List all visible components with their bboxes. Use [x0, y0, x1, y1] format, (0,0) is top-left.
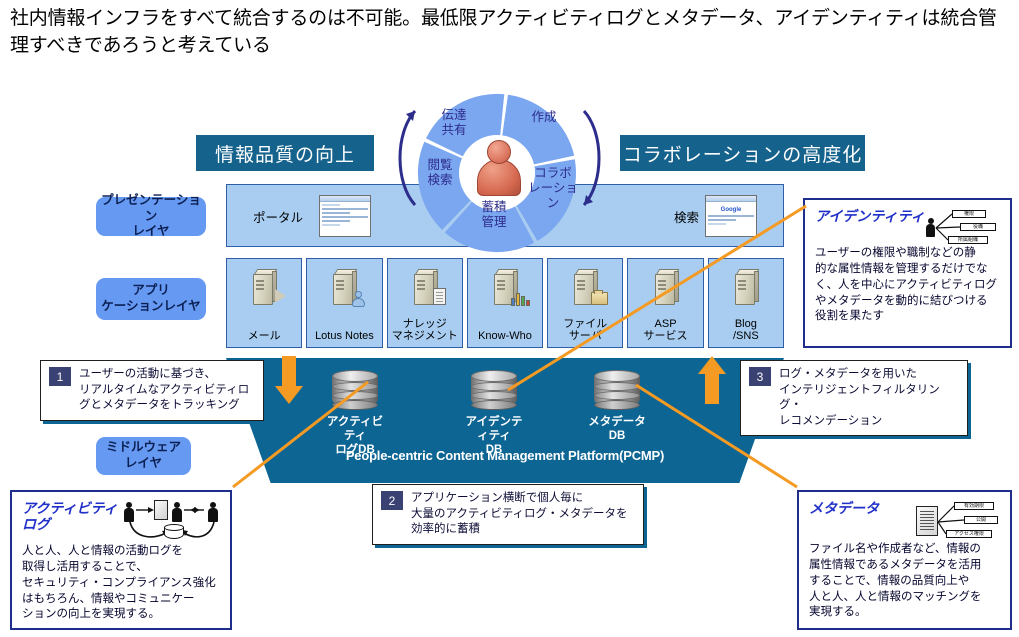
note-1-line1: ユーザーの活動に基づき、 [79, 368, 216, 380]
rotation-arrow-left-icon [389, 103, 423, 213]
concept-box-metadata: メタデータ 有効期限 公開 アクセス権限 ファイル名や作成者など、情報の 属性情… [797, 490, 1012, 630]
activity-body-5: ションの向上を実現する。 [22, 608, 160, 620]
portal-label: ポータル [253, 207, 303, 226]
concept-metadata-title: メタデータ [809, 500, 879, 516]
server-icon [651, 269, 681, 307]
metadata-body-5: 実現する。 [809, 606, 867, 618]
identity-body-4: やメタデータを動的に結びつける [815, 295, 988, 307]
app-tile-asp-service[interactable]: ASP サービス [627, 258, 703, 348]
concept-identity-body: ユーザーの権限や職制などの静 的な属性情報を管理するだけでな く、人を中心にアク… [815, 246, 1000, 325]
pcmp-platform-title: People-centric Content Management Platfo… [226, 448, 784, 463]
database-cylinder-icon [332, 370, 378, 412]
metadata-body-3: することで、情報の品質向上や [809, 575, 969, 587]
browser-window-icon [319, 195, 371, 237]
page-title: 社内情報インフラをすべて統合するのは不可能。最低限アクティビティログとメタデータ… [10, 6, 1010, 60]
note-1-line2: リアルタイムなアクティビティロ [79, 384, 249, 396]
note-3-line2: インテリジェントフィルタリング・ [779, 384, 940, 412]
google-search-window-icon: Google [705, 195, 757, 237]
server-icon [731, 269, 761, 307]
database-identity: アイデンティティ DB [461, 370, 527, 457]
db-label-identity-1: アイデンティティ [466, 416, 523, 442]
db-label-metadata-1: メタデータ [588, 416, 646, 428]
server-mail-icon [249, 269, 279, 307]
app-label-mail: メール [248, 330, 281, 342]
note-3-line1: ログ・メタデータを用いた [779, 368, 917, 380]
concept-identity-title: アイデンティティ [815, 208, 925, 224]
layer-presentation-line2: レイヤ [132, 224, 169, 238]
metadata-body-2: 属性情報であるメタデータを活用 [809, 559, 981, 571]
server-document-icon [410, 269, 440, 307]
metadata-body-4: 人と人、人と情報のマッチングを [809, 591, 982, 603]
layer-label-application: アプリ ケーションレイヤ [96, 278, 206, 320]
app-label-blog-sns-2: /SNS [733, 330, 759, 342]
pcmp-platform-panel: アクティビティ ログDB アイデンティティ DB メタデータ DB People… [226, 358, 784, 483]
rotation-arrow-right-icon [576, 103, 610, 213]
layer-presentation-line1: プレゼンテーション [101, 193, 201, 223]
concept-box-activity-log: アクティビティ ログ 人と人、人と情報の活動ログを [10, 490, 232, 630]
app-tile-lotus-notes[interactable]: Lotus Notes [306, 258, 382, 348]
layer-label-presentation: プレゼンテーション レイヤ [96, 197, 206, 236]
activity-title-1: アクティビティ [22, 500, 118, 516]
server-chart-icon [490, 269, 520, 307]
database-cylinder-icon [594, 370, 640, 412]
app-label-asp-service-2: サービス [644, 330, 688, 342]
note-number-3: 3 [749, 367, 771, 386]
search-label: 検索 [674, 207, 699, 226]
layer-label-middleware: ミドルウェア レイヤ [96, 437, 191, 475]
concept-box-identity: アイデンティティ 権限 役職 所属組織 ユーザーの権限や職制などの静 的な属性情… [803, 198, 1012, 348]
concept-activity-title: アクティビティ ログ [22, 500, 118, 532]
note-2-line1: アプリケーション横断で個人毎に [411, 492, 583, 504]
note-number-2: 2 [381, 491, 403, 510]
metadata-body-1: ファイル名や作成者など、情報の [809, 543, 981, 555]
app-tile-knowledge-management[interactable]: ナレッジ マネジメント [387, 258, 463, 348]
activity-body-1: 人と人、人と情報の活動ログを [22, 545, 183, 557]
app-label-knowledge-management-1: ナレッジ [403, 318, 447, 330]
db-label-metadata-2: DB [609, 430, 626, 442]
identity-tag-2: 役職 [960, 223, 996, 231]
activity-body-3: セキュリティ・コンプライアンス強化 [22, 577, 216, 589]
app-label-know-who: Know-Who [478, 330, 532, 342]
app-tile-mail[interactable]: メール [226, 258, 302, 348]
search-thumb-brand: Google [708, 207, 754, 213]
identity-body-1: ユーザーの権限や職制などの静 [815, 247, 976, 259]
note-callout-1: 1 ユーザーの活動に基づき、 リアルタイムなアクティビティロ グとメタデータをト… [40, 360, 264, 421]
app-label-asp-service-1: ASP [655, 318, 677, 330]
identity-body-2: 的な属性情報を管理するだけでな [815, 263, 988, 275]
identity-body-3: く、人を中心にアクティビティログ [815, 279, 997, 291]
server-user-icon [329, 269, 359, 307]
identity-body-5: 役割を果たす [815, 310, 884, 322]
note-2-line2: 大量のアクティビティログ・メタデータを [411, 508, 628, 520]
app-tile-know-who[interactable]: Know-Who [467, 258, 543, 348]
identity-tag-3: 所属組織 [948, 236, 988, 244]
people-document-database-icon [124, 500, 220, 544]
database-activity-log: アクティビティ ログDB [322, 370, 388, 457]
note-callout-2: 2 アプリケーション横断で個人毎に 大量のアクティビティログ・メタデータを 効率… [372, 484, 644, 545]
person-avatar-icon [477, 140, 521, 196]
database-cylinder-icon [471, 370, 517, 412]
document-attributes-icon: 有効期限 公開 アクセス権限 [916, 502, 1000, 542]
app-label-blog-sns-1: Blog [735, 318, 757, 330]
app-label-file-server-2: サーバ [569, 330, 602, 342]
app-label-knowledge-management-2: マネジメント [392, 330, 458, 342]
db-label-activity-1: アクティビティ [327, 416, 383, 442]
activity-title-2: ログ [22, 516, 50, 532]
database-metadata: メタデータ DB [584, 370, 650, 444]
person-attributes-icon: 権限 役職 所属組織 [926, 210, 1000, 246]
server-folder-icon [570, 269, 600, 307]
layer-application-line2: ケーションレイヤ [101, 299, 200, 313]
note-2-line3: 効率的に蓄積 [411, 523, 480, 535]
metadata-tag-1: 有効期限 [954, 502, 994, 510]
app-label-file-server-1: ファイル [563, 318, 607, 330]
metadata-tag-2: 公開 [964, 516, 998, 524]
note-1-line3: グとメタデータをトラッキング [79, 399, 240, 411]
layer-middleware-line2: レイヤ [125, 456, 162, 470]
activity-body-4: はもちろん、情報やコミュニケー [22, 593, 195, 605]
layer-application-line1: アプリ [132, 283, 170, 297]
banner-information-quality: 情報品質の向上 [196, 135, 374, 171]
note-3-line3: レコメンデーション [779, 415, 882, 427]
identity-tag-1: 権限 [952, 210, 986, 218]
concept-activity-body: 人と人、人と情報の活動ログを 取得し活用することで、 セキュリティ・コンプライア… [22, 544, 220, 623]
layer-middleware-line1: ミドルウェア [106, 440, 181, 454]
metadata-tag-3: アクセス権限 [946, 530, 992, 538]
activity-body-2: 取得し活用することで、 [22, 561, 148, 573]
concept-metadata-body: ファイル名や作成者など、情報の 属性情報であるメタデータを活用 することで、情報… [809, 542, 1000, 621]
application-layer-row: メール Lotus Notes ナレッジ マネジメント Know [226, 258, 784, 348]
note-callout-3: 3 ログ・メタデータを用いた インテリジェントフィルタリング・ レコメンデーショ… [740, 360, 968, 436]
note-number-1: 1 [49, 367, 71, 386]
app-tile-file-server[interactable]: ファイル サーバ [547, 258, 623, 348]
app-tile-blog-sns[interactable]: Blog /SNS [708, 258, 784, 348]
banner-collaboration: コラボレーションの高度化 [620, 135, 865, 171]
app-label-lotus-notes: Lotus Notes [315, 330, 374, 342]
content-lifecycle-wheel: 作成 コラボ レーション 蓄積 管理 閲覧 検索 伝達 共有 [404, 88, 590, 258]
